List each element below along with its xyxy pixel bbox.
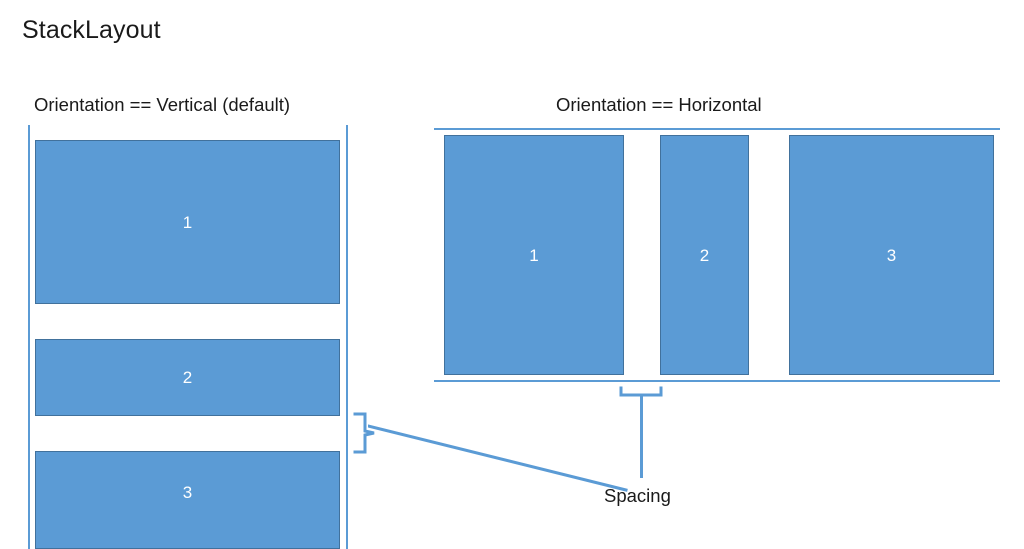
- vertical-column-right-guide: [346, 125, 348, 549]
- vertical-stack-box-2[interactable]: 2: [35, 339, 340, 416]
- horizontal-stack-box-1[interactable]: 1: [444, 135, 624, 375]
- page-title: StackLayout: [22, 16, 161, 45]
- vertical-column-heading: Orientation == Vertical (default): [34, 94, 290, 116]
- horizontal-stack-box-2-label: 2: [700, 247, 709, 264]
- spacing-annotation-label: Spacing: [604, 485, 671, 507]
- horizontal-stack-box-3[interactable]: 3: [789, 135, 994, 375]
- horizontal-stack-box-3-label: 3: [887, 247, 896, 264]
- vertical-stack-box-1[interactable]: 1: [35, 140, 340, 304]
- slide-canvas: StackLayout Orientation == Vertical (def…: [0, 0, 1024, 549]
- horizontal-stack-box-2[interactable]: 2: [660, 135, 749, 375]
- vertical-stack-box-3[interactable]: 3: [35, 451, 340, 549]
- horizontal-stack-box-1-label: 1: [529, 247, 538, 264]
- vertical-stack-box-1-label: 1: [183, 214, 192, 231]
- vertical-stack-box-2-label: 2: [183, 369, 192, 386]
- horizontal-column-top-guide: [434, 128, 1000, 130]
- vertical-column-left-guide: [28, 125, 30, 549]
- spacing-leader-line-diagonal: [368, 424, 630, 494]
- vertical-stack-box-3-label: 3: [183, 484, 192, 501]
- horizontal-column-bottom-guide: [434, 380, 1000, 382]
- spacing-leader-line-vertical: [640, 394, 643, 478]
- horizontal-column-heading: Orientation == Horizontal: [556, 94, 762, 116]
